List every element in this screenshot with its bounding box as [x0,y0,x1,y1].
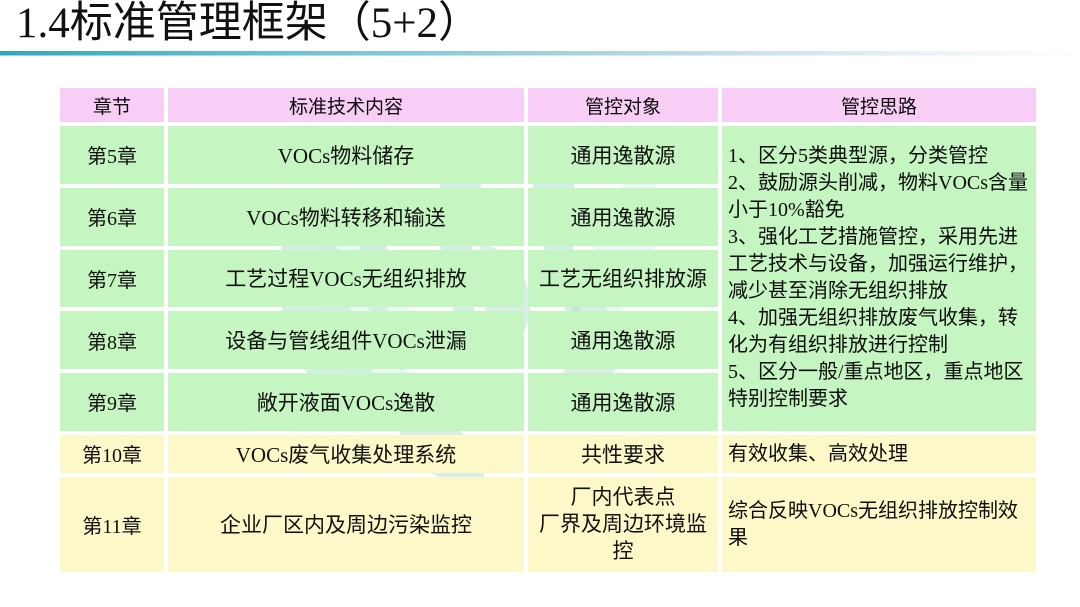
page-title: 1.4标准管理框架（5+2） [16,0,481,50]
cell-technical-content: 设备与管线组件VOCs泄漏 [168,311,524,369]
cell-chapter: 第6章 [60,188,164,246]
cell-chapter: 第8章 [60,311,164,369]
cell-technical-content: VOCs废气收集处理系统 [168,435,524,473]
cell-control-approach: 有效收集、高效处理 [722,435,1036,473]
cell-control-object: 通用逸散源 [528,373,718,431]
cell-technical-content: 企业厂区内及周边污染监控 [168,477,524,572]
cell-control-approach: 综合反映VOCs无组织排放控制效果 [722,477,1036,572]
cell-control-object: 工艺无组织排放源 [528,250,718,308]
column-header-chapter: 章节 [60,88,164,122]
column-header-control-object: 管控对象 [528,88,718,122]
standard-framework-table: 章节 标准技术内容 管控对象 管控思路 第5章 VOCs物料储存 通用逸散源 1… [56,84,1040,576]
cell-chapter: 第9章 [60,373,164,431]
cell-technical-content: VOCs物料转移和输送 [168,188,524,246]
standard-framework-table-wrapper: 章节 标准技术内容 管控对象 管控思路 第5章 VOCs物料储存 通用逸散源 1… [60,88,1032,580]
cell-chapter: 第7章 [60,250,164,308]
cell-control-object: 通用逸散源 [528,188,718,246]
cell-technical-content: VOCs物料储存 [168,126,524,184]
cell-merged-control-approach: 1、区分5类典型源，分类管控2、鼓励源头削减，物料VOCs含量小于10%豁免3、… [722,126,1036,431]
cell-chapter: 第11章 [60,477,164,572]
cell-chapter: 第5章 [60,126,164,184]
cell-chapter: 第10章 [60,435,164,473]
cell-control-object: 共性要求 [528,435,718,473]
table-row: 第5章 VOCs物料储存 通用逸散源 1、区分5类典型源，分类管控2、鼓励源头削… [60,126,1036,184]
column-header-control-approach: 管控思路 [722,88,1036,122]
title-underline-rule-secondary [0,55,1080,56]
table-header-row: 章节 标准技术内容 管控对象 管控思路 [60,88,1036,122]
table-row: 第11章 企业厂区内及周边污染监控 厂内代表点厂界及周边环境监控 综合反映VOC… [60,477,1036,572]
table-row: 第10章 VOCs废气收集处理系统 共性要求 有效收集、高效处理 [60,435,1036,473]
cell-technical-content: 敞开液面VOCs逸散 [168,373,524,431]
column-header-technical-content: 标准技术内容 [168,88,524,122]
cell-control-object: 通用逸散源 [528,311,718,369]
cell-control-object: 厂内代表点厂界及周边环境监控 [528,477,718,572]
cell-control-object: 通用逸散源 [528,126,718,184]
cell-technical-content: 工艺过程VOCs无组织排放 [168,250,524,308]
